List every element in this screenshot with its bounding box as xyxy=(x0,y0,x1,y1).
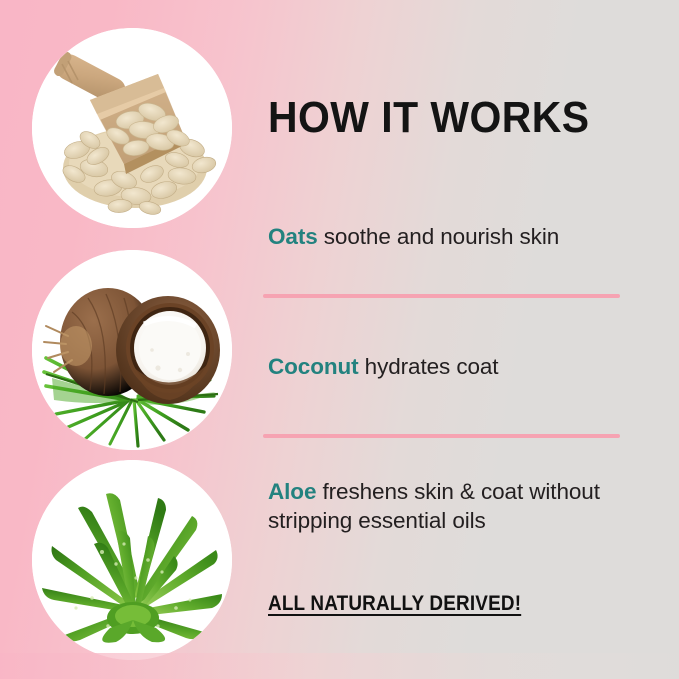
oats-image-circle xyxy=(32,28,232,228)
divider-line-2 xyxy=(263,434,620,438)
benefit-item-aloe: Aloe freshens skin & coat without stripp… xyxy=(268,477,658,536)
coconut-palm-image xyxy=(32,250,232,450)
tagline: ALL NATURALLY DERIVED! xyxy=(268,592,521,616)
oats-scoop-image xyxy=(32,28,232,228)
benefit-item-coconut: Coconut hydrates coat xyxy=(268,352,658,381)
page-title: HOW IT WORKS xyxy=(268,96,590,140)
benefit-item-oats: Oats soothe and nourish skin xyxy=(268,222,658,251)
text-content-column: HOW IT WORKS Oats soothe and nourish ski… xyxy=(263,0,663,679)
benefit-highlight-oats: Oats xyxy=(268,224,318,249)
benefit-highlight-coconut: Coconut xyxy=(268,354,359,379)
aloe-vera-plant-image xyxy=(32,460,232,660)
benefit-text-coconut: hydrates coat xyxy=(359,354,499,379)
coconut-image-circle xyxy=(32,250,232,450)
ingredient-image-column xyxy=(0,0,250,679)
aloe-image-circle xyxy=(32,460,232,660)
benefit-text-oats: soothe and nourish skin xyxy=(318,224,560,249)
benefit-text-aloe: freshens skin & coat without stripping e… xyxy=(268,479,600,533)
divider-line-1 xyxy=(263,294,620,298)
how-it-works-infographic: HOW IT WORKS Oats soothe and nourish ski… xyxy=(0,0,679,679)
benefit-highlight-aloe: Aloe xyxy=(268,479,316,504)
